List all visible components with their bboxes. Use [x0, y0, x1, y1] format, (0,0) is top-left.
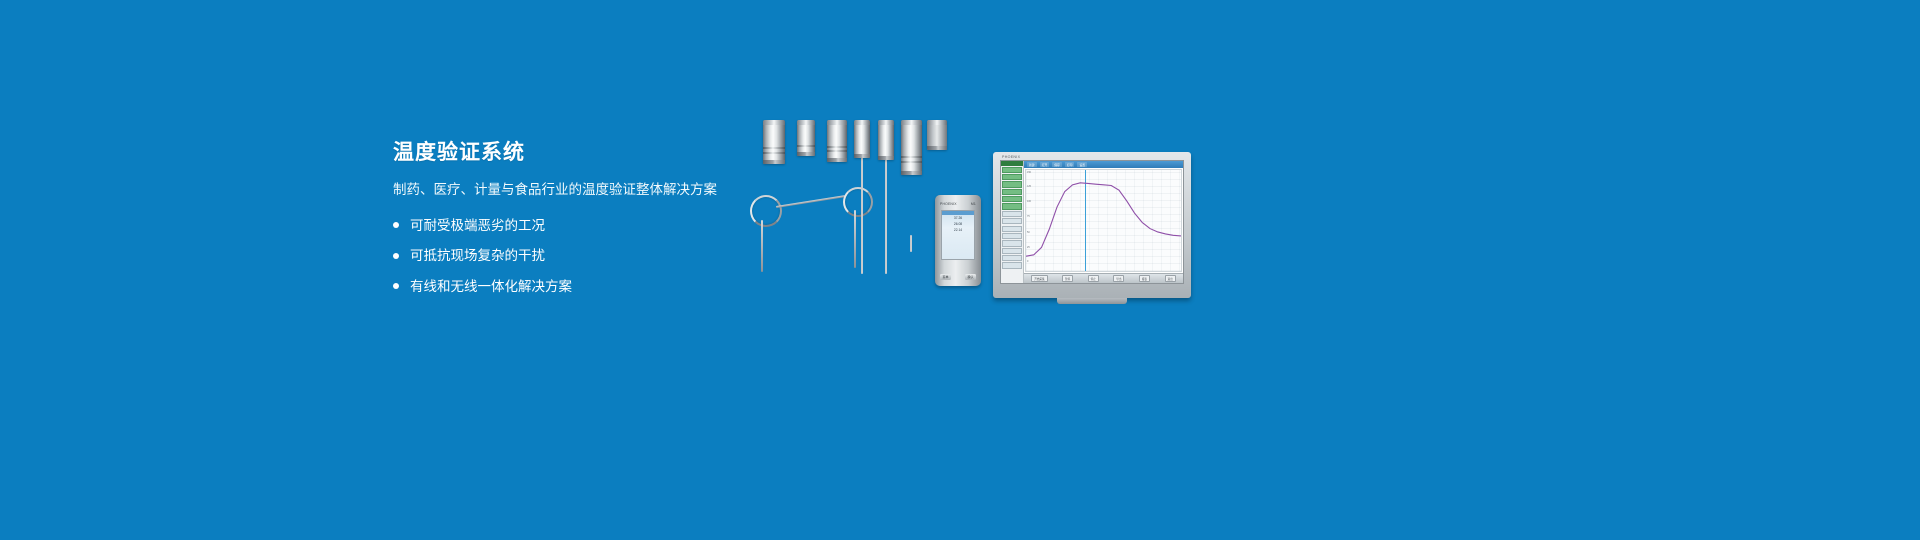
feature-label: 可耐受极端恶劣的工况: [410, 219, 545, 233]
channel-list-panel: [1001, 161, 1024, 283]
channel-row[interactable]: [1002, 174, 1022, 180]
action-button-export[interactable]: 导出: [1113, 275, 1124, 282]
bullet-dot-icon: [393, 253, 399, 259]
handheld-keypad[interactable]: 菜单 确认: [940, 274, 976, 280]
monitor-brand: PHOENIX: [1002, 155, 1020, 159]
handheld-reading: 22.14: [942, 227, 974, 233]
hero-banner: 温度验证系统 制药、医疗、计量与食品行业的温度验证整体解决方案 可耐受极端恶劣的…: [0, 0, 1920, 540]
channel-row[interactable]: [1002, 211, 1022, 217]
validation-software-monitor: PHOENIX: [993, 152, 1191, 298]
channel-row[interactable]: [1002, 240, 1022, 246]
data-logger-device: [901, 120, 922, 175]
channel-row[interactable]: [1002, 255, 1022, 261]
feature-label: 可抵抗现场复杂的干扰: [410, 249, 545, 263]
channel-row[interactable]: [1002, 203, 1022, 209]
data-logger-device: [878, 120, 894, 160]
feature-label: 有线和无线一体化解决方案: [410, 280, 572, 294]
sensor-cable: [854, 210, 856, 268]
software-action-bar[interactable]: 开始采集 暂停 停止 导出 报表 退出: [1024, 273, 1183, 283]
coil-sensor-icon: [843, 187, 873, 217]
action-button-exit[interactable]: 退出: [1165, 275, 1176, 282]
channel-row[interactable]: [1002, 233, 1022, 239]
handheld-screen: 37.26 26.08 22.14: [941, 210, 975, 260]
data-logger-device: [763, 120, 785, 164]
handheld-reader-device: PHOENIX M1 37.26 26.08 22.14 菜单 确认: [935, 195, 981, 286]
handheld-brand-left: PHOENIX: [940, 202, 957, 206]
action-button-report[interactable]: 报表: [1139, 275, 1150, 282]
bullet-dot-icon: [393, 222, 399, 228]
data-logger-device: [854, 120, 870, 158]
handheld-key-confirm[interactable]: 确认: [965, 274, 976, 280]
data-logger-device: [927, 120, 947, 150]
channel-list-header: [1001, 161, 1023, 166]
chart-ytick: 50: [1027, 231, 1030, 234]
channel-row[interactable]: [1002, 262, 1022, 268]
coil-sensor-icon: [750, 195, 782, 227]
action-button-pause[interactable]: 暂停: [1062, 275, 1073, 282]
toolbar-button-new[interactable]: 新建: [1027, 162, 1037, 167]
handheld-brand-right: M1: [971, 202, 976, 206]
logger-stem: [910, 235, 912, 252]
chart-ytick: 25: [1027, 246, 1030, 249]
chart-ytick: 0: [1027, 260, 1028, 263]
channel-row[interactable]: [1002, 181, 1022, 187]
chart-ytick: 100: [1027, 200, 1031, 203]
data-logger-device: [797, 120, 815, 156]
channel-row[interactable]: [1002, 167, 1022, 173]
data-logger-device: [827, 120, 847, 162]
channel-row[interactable]: [1002, 189, 1022, 195]
channel-row[interactable]: [1002, 226, 1022, 232]
action-button-stop[interactable]: 停止: [1088, 275, 1099, 282]
monitor-main-panel: 新建 打开 保存 打印 设置 150 125 100: [1024, 161, 1183, 283]
chart-curve: [1026, 170, 1181, 271]
temperature-chart: 150 125 100 75 50 25 0: [1025, 169, 1182, 272]
handheld-key-menu[interactable]: 菜单: [940, 274, 951, 280]
toolbar-button-print[interactable]: 打印: [1065, 162, 1075, 167]
channel-row[interactable]: [1002, 218, 1022, 224]
software-toolbar[interactable]: 新建 打开 保存 打印 设置: [1024, 161, 1183, 168]
toolbar-button-save[interactable]: 保存: [1052, 162, 1062, 167]
channel-row[interactable]: [1002, 248, 1022, 254]
bullet-dot-icon: [393, 283, 399, 289]
toolbar-button-open[interactable]: 打开: [1040, 162, 1050, 167]
monitor-screen: 新建 打开 保存 打印 设置 150 125 100: [1000, 160, 1184, 284]
chart-ytick: 75: [1027, 215, 1030, 218]
channel-row[interactable]: [1002, 196, 1022, 202]
handheld-brand: PHOENIX M1: [940, 202, 976, 206]
sensor-cable: [761, 220, 763, 272]
chart-ytick: 125: [1027, 185, 1031, 188]
monitor-stand: [1057, 298, 1127, 304]
toolbar-button-settings[interactable]: 设置: [1077, 162, 1087, 167]
needle-probe: [861, 146, 863, 274]
action-button-start[interactable]: 开始采集: [1031, 275, 1047, 282]
product-image-group: PHOENIX M1 37.26 26.08 22.14 菜单 确认 PHOEN…: [735, 120, 1205, 305]
chart-ytick: 150: [1027, 171, 1031, 174]
sensor-cable: [776, 195, 845, 208]
